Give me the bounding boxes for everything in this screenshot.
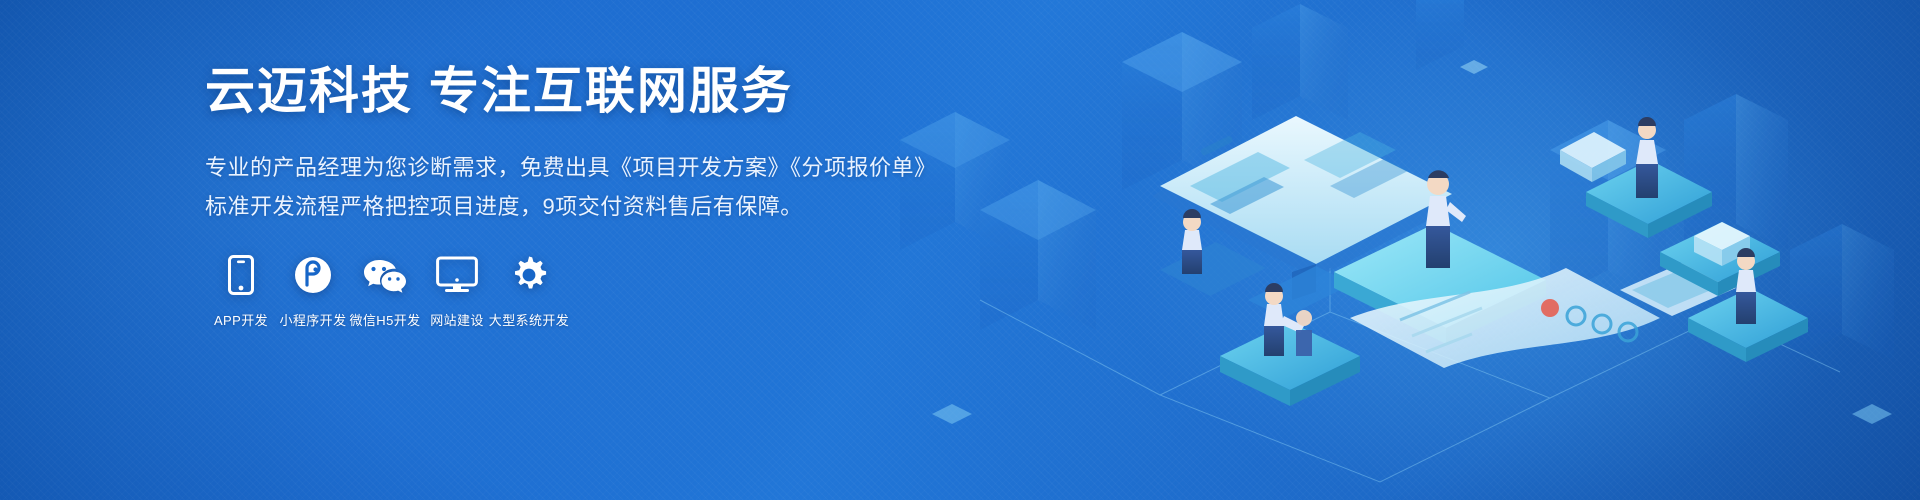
service-list: APP开发 小程序开发 (205, 252, 905, 329)
hero-banner: 云迈科技 专注互联网服务 专业的产品经理为您诊断需求，免费出具《项目开发方案》《… (0, 0, 1920, 500)
service-item-system[interactable]: 大型系统开发 (493, 252, 565, 329)
service-label: 微信H5开发 (349, 310, 420, 329)
service-label: APP开发 (214, 310, 268, 329)
service-label: 小程序开发 (279, 310, 346, 329)
monitor-icon (436, 252, 478, 298)
isometric-illustration (860, 0, 1920, 500)
wechat-icon (363, 252, 407, 298)
hero-content: 云迈科技 专注互联网服务 专业的产品经理为您诊断需求，免费出具《项目开发方案》《… (205, 62, 905, 329)
mobile-phone-icon (228, 252, 254, 298)
subtitle-line-2: 标准开发流程严格把控项目进度，9项交付资料售后有保障。 (205, 187, 905, 226)
service-item-miniprogram[interactable]: 小程序开发 (277, 252, 349, 329)
subtitle-block: 专业的产品经理为您诊断需求，免费出具《项目开发方案》《分项报价单》 标准开发流程… (205, 148, 905, 226)
page-title: 云迈科技 专注互联网服务 (205, 62, 905, 121)
service-label: 大型系统开发 (489, 310, 569, 329)
service-item-app[interactable]: APP开发 (205, 252, 277, 329)
service-label: 网站建设 (430, 310, 484, 329)
gear-icon (509, 252, 549, 298)
subtitle-line-1: 专业的产品经理为您诊断需求，免费出具《项目开发方案》《分项报价单》 (205, 148, 905, 187)
mini-program-icon (294, 252, 332, 298)
service-item-wechat[interactable]: 微信H5开发 (349, 252, 421, 329)
service-item-website[interactable]: 网站建设 (421, 252, 493, 329)
